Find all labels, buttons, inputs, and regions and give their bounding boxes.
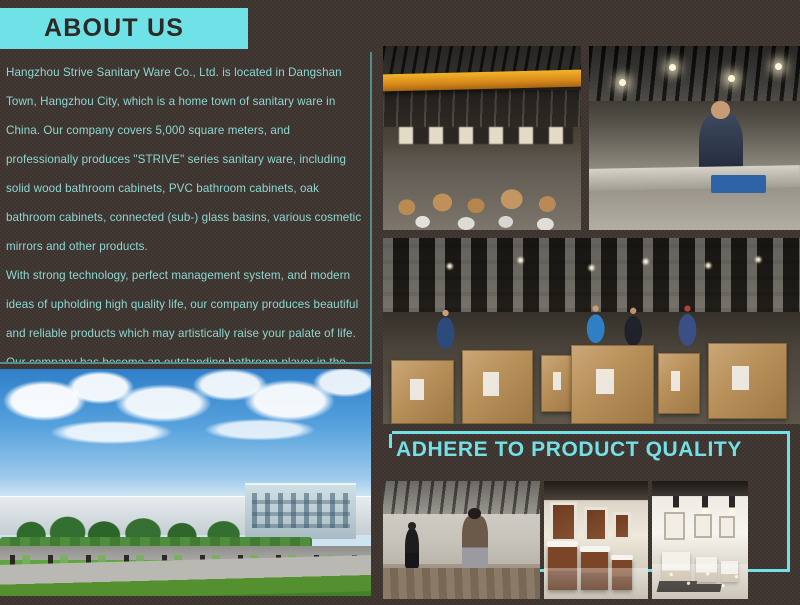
ceiling-lamp	[775, 63, 782, 70]
sky-clouds	[0, 369, 371, 501]
photo-white-showroom	[652, 481, 748, 599]
photo-scene	[383, 46, 581, 230]
photo-scene	[652, 481, 748, 599]
stacked-cartons	[383, 149, 581, 230]
shop-ceiling	[589, 46, 800, 101]
showroom-ceiling	[544, 481, 648, 500]
page-title: ABOUT US	[44, 14, 184, 43]
pendant-light	[729, 496, 735, 515]
photo-factory-hall-crane	[383, 46, 581, 230]
carton-rows	[383, 301, 800, 424]
photo-factory-exterior	[0, 369, 371, 596]
wall-mirror	[719, 516, 734, 537]
photo-workshop-inspection	[383, 481, 540, 599]
quality-section-heading: ADHERE TO PRODUCT QUALITY	[396, 438, 742, 462]
intro-paragraph-3-text: Our company has become an outstanding ba…	[6, 356, 360, 364]
polished-floor	[544, 568, 648, 599]
roof-panels	[383, 90, 581, 127]
wall-mirror	[664, 512, 685, 540]
worker-figure	[405, 528, 419, 568]
pendant-light	[702, 496, 708, 515]
intro-paragraph-2: With strong technology, perfect manageme…	[6, 261, 362, 348]
warehouse-lights	[383, 253, 800, 286]
photo-wood-vanity-showroom	[544, 481, 648, 599]
hall-windows	[399, 127, 573, 144]
polished-floor	[652, 564, 748, 599]
intro-paragraph-3: Our company has become an outstanding ba…	[6, 348, 362, 364]
carton-box	[391, 360, 454, 424]
vanity-mirror	[550, 502, 577, 542]
saw-machine	[711, 175, 766, 193]
vanity-mirror	[584, 507, 609, 542]
company-intro-panel: Hangzhou Strive Sanitary Ware Co., Ltd. …	[0, 52, 372, 364]
carton-box	[462, 350, 533, 424]
photo-worker-panel-saw	[589, 46, 800, 230]
photo-scene	[383, 238, 800, 424]
carton-box	[658, 353, 700, 414]
showroom-ceiling	[652, 481, 748, 496]
photo-scene	[589, 46, 800, 230]
photo-scene	[544, 481, 648, 599]
vanity-mirror	[613, 512, 632, 540]
saw-table	[589, 166, 800, 192]
office-block	[245, 483, 356, 539]
wall-mirror	[694, 514, 711, 538]
ceiling-lamp	[619, 79, 626, 86]
carton-box	[708, 343, 787, 419]
workshop-floor	[383, 568, 540, 599]
intro-paragraph-1: Hangzhou Strive Sanitary Ware Co., Ltd. …	[6, 58, 362, 261]
carton-box	[571, 345, 654, 424]
about-us-banner: ABOUT US	[0, 8, 248, 49]
workshop-ceiling	[383, 481, 540, 516]
photo-scene	[383, 481, 540, 599]
photo-warehouse-packing	[383, 238, 800, 424]
about-us-page: ABOUT US Hangzhou Strive Sanitary Ware C…	[0, 0, 800, 605]
photo-scene	[0, 369, 371, 596]
